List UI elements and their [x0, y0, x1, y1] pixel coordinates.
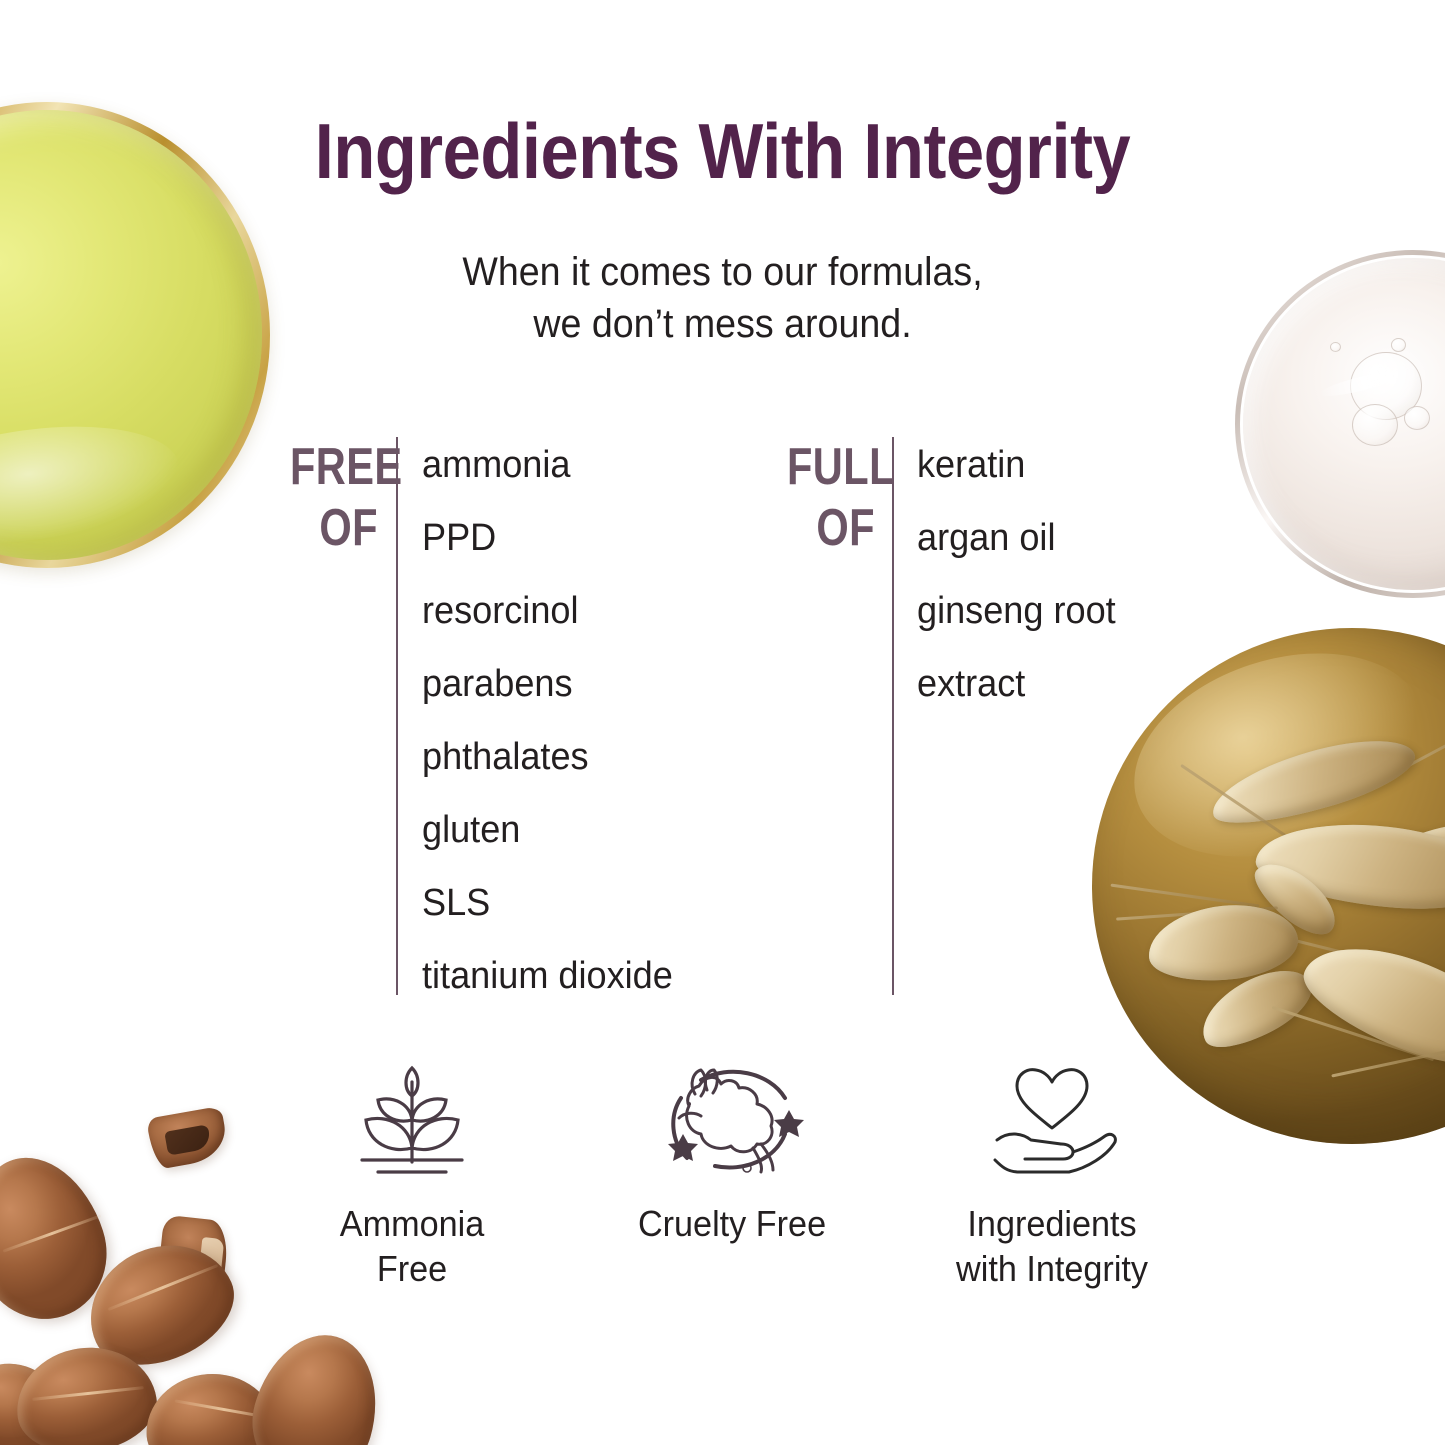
full-of-divider: [892, 437, 894, 995]
ginseng-rootlet: [1111, 884, 1260, 907]
free-of-label-line-2: OF: [290, 498, 378, 559]
argan-shell-fragment: [156, 1215, 230, 1299]
ginseng-rootlet: [1116, 906, 1278, 920]
free-of-list: ammonia PPD resorcinol parabens phthalat…: [422, 429, 673, 1013]
argan-nut-seam: [3, 1214, 102, 1252]
argan-nut-seam: [108, 1264, 219, 1311]
list-item: ginseng root: [917, 575, 1116, 648]
list-item: SLS: [422, 867, 673, 940]
argan-nut: [238, 1320, 395, 1445]
bowl-highlight: [1108, 628, 1445, 892]
badge-ammonia-free: Ammonia Free: [252, 1062, 572, 1332]
argan-kernel: [198, 1237, 225, 1285]
argan-nut: [70, 1223, 251, 1386]
ginseng-root: [1145, 898, 1302, 987]
certification-badges: Ammonia Free: [252, 1062, 1212, 1332]
ginseng-root: [1252, 813, 1445, 918]
argan-nut: [0, 1140, 124, 1336]
hand-holding-heart-icon: [977, 1062, 1127, 1180]
badge-label-line-2: Free: [340, 1247, 484, 1292]
badge-label: Ammonia Free: [340, 1202, 484, 1291]
argan-nut: [9, 1339, 162, 1445]
badge-ingredients-with-integrity: Ingredients with Integrity: [892, 1062, 1212, 1332]
free-of-label-line-1: FREE: [290, 437, 378, 498]
badge-label-line-1: Ingredients: [956, 1202, 1148, 1247]
list-item: parabens: [422, 648, 673, 721]
argan-nut-seam: [32, 1386, 144, 1401]
gel-bubble: [1352, 404, 1398, 446]
plant-sprout-icon: [348, 1062, 476, 1180]
list-item: PPD: [422, 502, 673, 575]
full-of-label-line-1: FULL: [787, 437, 875, 498]
ginseng-rootlet: [1224, 922, 1405, 969]
ginseng-rootlet: [1180, 764, 1289, 839]
argan-shell-fragment-interior: [164, 1124, 211, 1155]
free-of-label: FREE OF: [290, 437, 378, 559]
list-item: gluten: [422, 794, 673, 867]
badge-cruelty-free: Cruelty Free: [572, 1062, 892, 1332]
gel-highlight: [1318, 365, 1411, 401]
list-item: argan oil: [917, 502, 1116, 575]
gel-bubble: [1404, 406, 1430, 430]
ginseng-rootlet: [1331, 1045, 1445, 1077]
list-item: resorcinol: [422, 575, 673, 648]
argan-nut-seam: [174, 1399, 273, 1419]
gel-bubble: [1350, 352, 1422, 420]
ginseng-root: [1368, 813, 1445, 902]
list-item: ammonia: [422, 429, 673, 502]
argan-nut: [143, 1370, 280, 1445]
badge-label: Cruelty Free: [638, 1202, 826, 1247]
ginseng-root: [1190, 955, 1322, 1061]
ginseng-root: [1245, 850, 1347, 945]
page-title: Ingredients With Integrity: [87, 112, 1359, 190]
badge-label: Ingredients with Integrity: [956, 1202, 1148, 1291]
list-item: phthalates: [422, 721, 673, 794]
infographic-root: Ingredients With Integrity When it comes…: [0, 0, 1445, 1445]
badge-label-line-1: Cruelty Free: [638, 1202, 826, 1247]
yellow-oil-dish-highlight: [0, 410, 186, 561]
badge-label-line-2: with Integrity: [956, 1247, 1148, 1292]
full-of-list: keratin argan oil ginseng root extract: [917, 429, 1116, 721]
argan-shell-fragment: [146, 1106, 230, 1170]
subtitle-line-2: we don’t mess around.: [43, 298, 1401, 350]
subtitle-line-1: When it comes to our formulas,: [43, 246, 1401, 298]
leaping-bunny-icon: [657, 1062, 807, 1180]
badge-label-line-1: Ammonia: [340, 1202, 484, 1247]
list-item: titanium dioxide: [422, 940, 673, 1013]
list-item: keratin: [917, 429, 1116, 502]
argan-nut: [0, 1354, 74, 1445]
ginseng-rootlet: [1396, 714, 1445, 773]
ginseng-rootlet: [1272, 1006, 1434, 1061]
full-of-label: FULL OF: [787, 437, 875, 559]
free-of-divider: [396, 437, 398, 995]
ginseng-root: [1291, 923, 1445, 1085]
page-subtitle: When it comes to our formulas, we don’t …: [43, 246, 1401, 350]
ginseng-root: [1204, 724, 1422, 838]
list-item: extract: [917, 648, 1116, 721]
full-of-label-line-2: OF: [787, 498, 875, 559]
